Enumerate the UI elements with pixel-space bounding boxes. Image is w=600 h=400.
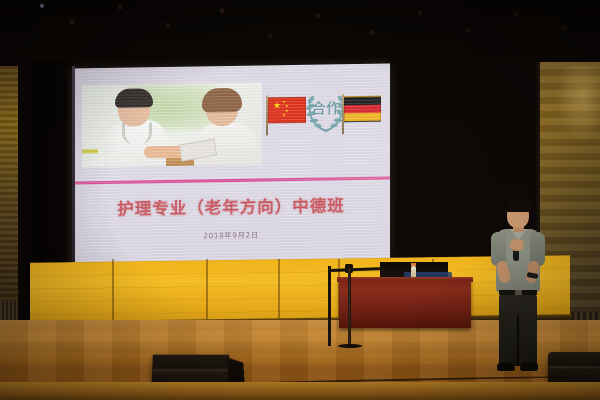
- presenter-hair: [505, 199, 531, 212]
- svg-text:合作: 合作: [311, 99, 341, 117]
- photo-nurse-hair: [115, 88, 153, 108]
- presenter-belt-buckle: [515, 290, 522, 295]
- presenter-shoe-left: [497, 363, 515, 371]
- china-big-star-icon: ★: [273, 102, 281, 111]
- stage-panel-seam: [112, 259, 114, 321]
- microphone-stand-base: [338, 344, 362, 348]
- stage-panel-seam: [278, 259, 280, 321]
- projection-screen: ★ ★ ★ ★ ★: [72, 64, 390, 265]
- presenter-leg-split: [517, 315, 519, 366]
- flag-china-icon: ★ ★ ★ ★ ★: [268, 97, 306, 124]
- microphone-stand-pole: [348, 268, 351, 346]
- cooperation-wreath-emblem-icon: 合作: [305, 86, 347, 135]
- presenter-shoe-right: [520, 363, 538, 371]
- stage-panel-seam: [206, 259, 208, 321]
- slide-divider-line: [72, 177, 390, 184]
- microphone-stand-secondary-pole: [328, 266, 331, 346]
- left-wood-wall-column: [0, 66, 20, 318]
- photo-elder-hair: [202, 88, 242, 113]
- stage-apron-edge: [0, 382, 600, 400]
- screen-left-frame-edge: [72, 66, 75, 262]
- photo-yellow-accent: [82, 149, 98, 153]
- podium-lectern: [339, 280, 471, 328]
- right-wall-light-highlight: [556, 66, 600, 144]
- presenter-hand: [510, 239, 524, 251]
- auditorium-presentation-photo: ★ ★ ★ ★ ★: [0, 0, 600, 400]
- flag-germany-icon: [344, 96, 381, 123]
- slide-date: 2018年9月2日: [72, 228, 390, 244]
- slide-photo: [82, 83, 262, 168]
- slide-title: 护理专业（老年方向）中德班: [72, 192, 390, 221]
- china-small-star-4-icon: ★: [282, 113, 286, 117]
- presenter-speaker: [486, 199, 548, 384]
